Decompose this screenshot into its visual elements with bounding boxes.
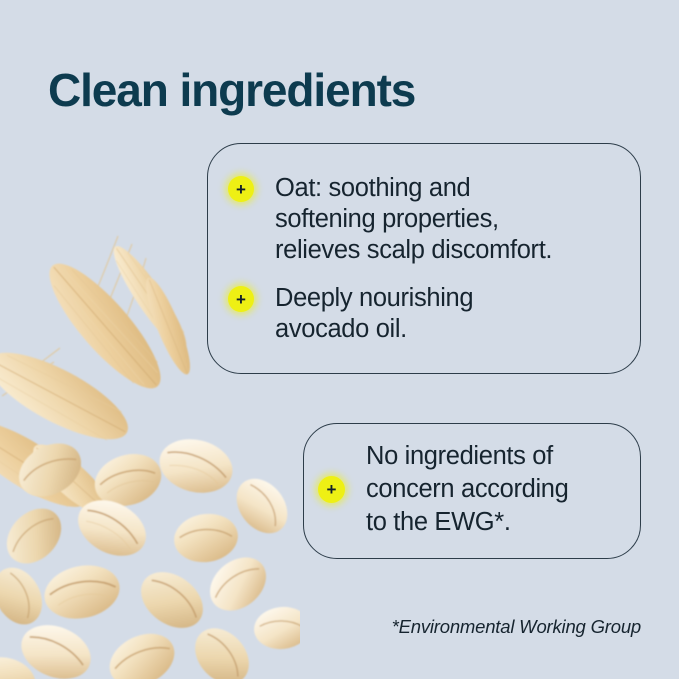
promo-graphic: Clean ingredients + Oat: soothing and so…	[0, 0, 679, 679]
bullet-item-label: No ingredients of concern according to t…	[366, 440, 568, 539]
page-title: Clean ingredients	[48, 61, 415, 119]
bullet-item-oat: + Oat: soothing and softening properties…	[228, 173, 552, 266]
bullet-item-label: Deeply nourishing avocado oil.	[275, 283, 473, 345]
bullet-item-ewg: + No ingredients of concern according to…	[318, 440, 568, 539]
footnote: *Environmental Working Group	[392, 616, 641, 638]
bullet-item-avocado: + Deeply nourishing avocado oil.	[228, 283, 473, 345]
bullet-item-label: Oat: soothing and softening properties, …	[275, 173, 552, 266]
plus-icon: +	[318, 476, 345, 503]
plus-icon: +	[228, 176, 254, 202]
plus-icon: +	[228, 286, 254, 312]
